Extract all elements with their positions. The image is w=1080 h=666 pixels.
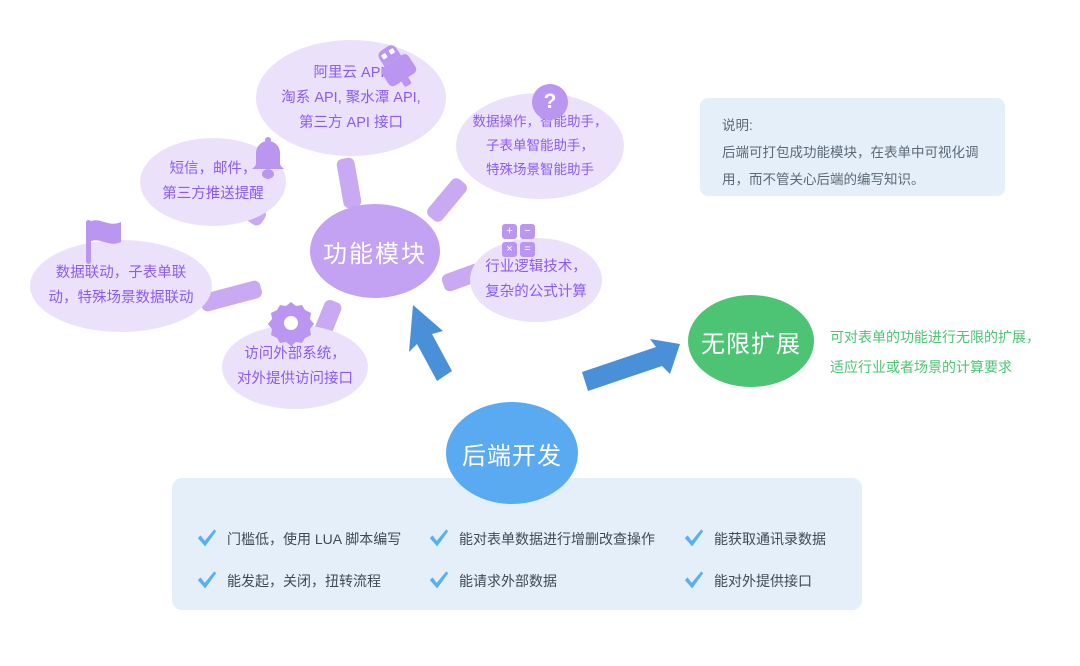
branch-label-line: 特殊场景智能助手 xyxy=(486,158,594,182)
branch-label-line: 对外提供访问接口 xyxy=(237,367,353,392)
expand-caption: 可对表单的功能进行无限的扩展， 适应行业或者场景的计算要求 xyxy=(830,322,1040,382)
list-item-label: 能发起，关闭，扭转流程 xyxy=(227,571,381,591)
calculator-icon: + − × = xyxy=(502,224,535,257)
expand-caption-line: 可对表单的功能进行无限的扩展， xyxy=(830,322,1040,352)
calc-times: × xyxy=(502,242,517,257)
list-item[interactable]: 能对外提供接口 xyxy=(683,570,842,592)
bell-icon xyxy=(246,137,290,183)
backend-node-label: 后端开发 xyxy=(462,436,562,471)
hub-node-function-module[interactable]: 功能模块 xyxy=(310,204,440,298)
arrow-backend-to-hub xyxy=(409,305,452,381)
list-item-label: 能获取通讯录数据 xyxy=(714,529,826,549)
note-line: 说明: xyxy=(722,112,983,139)
calc-equals: = xyxy=(520,242,535,257)
usb-icon xyxy=(368,38,424,94)
branch-label-line: 子表单智能助手， xyxy=(486,134,594,158)
branch-label-line: 行业逻辑技术， xyxy=(485,255,587,280)
calc-plus: + xyxy=(502,224,517,239)
expand-node-label: 无限扩展 xyxy=(701,324,801,359)
branch-label-line: 复杂的公式计算 xyxy=(485,280,587,305)
question-icon: ? xyxy=(532,84,568,120)
backend-node[interactable]: 后端开发 xyxy=(446,402,578,504)
branch-label-line: 第三方推送提醒 xyxy=(162,182,264,207)
branch-label-line: 第三方 API 接口 xyxy=(299,111,403,136)
note-line: 后端可打包成功能模块，在表单中可视化调 xyxy=(722,139,983,166)
check-icon xyxy=(428,570,450,592)
feature-checklist: 门槛低，使用 LUA 脚本编写 能对表单数据进行增删改查操作 能获取通讯录数据 … xyxy=(196,518,842,602)
check-icon xyxy=(683,570,705,592)
calc-minus: − xyxy=(520,224,535,239)
list-item[interactable]: 能请求外部数据 xyxy=(428,570,683,592)
check-icon xyxy=(683,528,705,550)
list-item[interactable]: 能获取通讯录数据 xyxy=(683,528,842,550)
branch-label-line: 短信，邮件， xyxy=(170,157,257,182)
branch-bubble-formula[interactable]: 行业逻辑技术， 复杂的公式计算 xyxy=(470,238,602,322)
list-item[interactable]: 能发起，关闭，扭转流程 xyxy=(196,570,428,592)
list-item-label: 门槛低，使用 LUA 脚本编写 xyxy=(227,529,401,549)
check-icon xyxy=(428,528,450,550)
list-item-label: 能对表单数据进行增删改查操作 xyxy=(459,529,655,549)
expand-node[interactable]: 无限扩展 xyxy=(688,295,814,387)
flag-icon xyxy=(76,216,128,270)
list-item[interactable]: 能对表单数据进行增删改查操作 xyxy=(428,528,683,550)
list-item-label: 能请求外部数据 xyxy=(459,571,557,591)
list-item[interactable]: 门槛低，使用 LUA 脚本编写 xyxy=(196,528,428,550)
check-icon xyxy=(196,570,218,592)
note-line: 用，而不管关心后端的编写知识。 xyxy=(722,166,983,193)
hub-label: 功能模块 xyxy=(323,234,427,269)
arrow-backend-to-expand xyxy=(582,339,680,391)
diagram-canvas: 阿里云 API, 淘系 API, 聚水潭 API, 第三方 API 接口 数据操… xyxy=(0,0,1080,666)
list-item-label: 能对外提供接口 xyxy=(714,571,812,591)
gear-icon xyxy=(268,300,314,346)
branch-label-line: 动，特殊场景数据联动 xyxy=(49,286,194,311)
expand-caption-line: 适应行业或者场景的计算要求 xyxy=(830,352,1040,382)
check-icon xyxy=(196,528,218,550)
explanation-note: 说明: 后端可打包成功能模块，在表单中可视化调 用，而不管关心后端的编写知识。 xyxy=(700,98,1005,196)
